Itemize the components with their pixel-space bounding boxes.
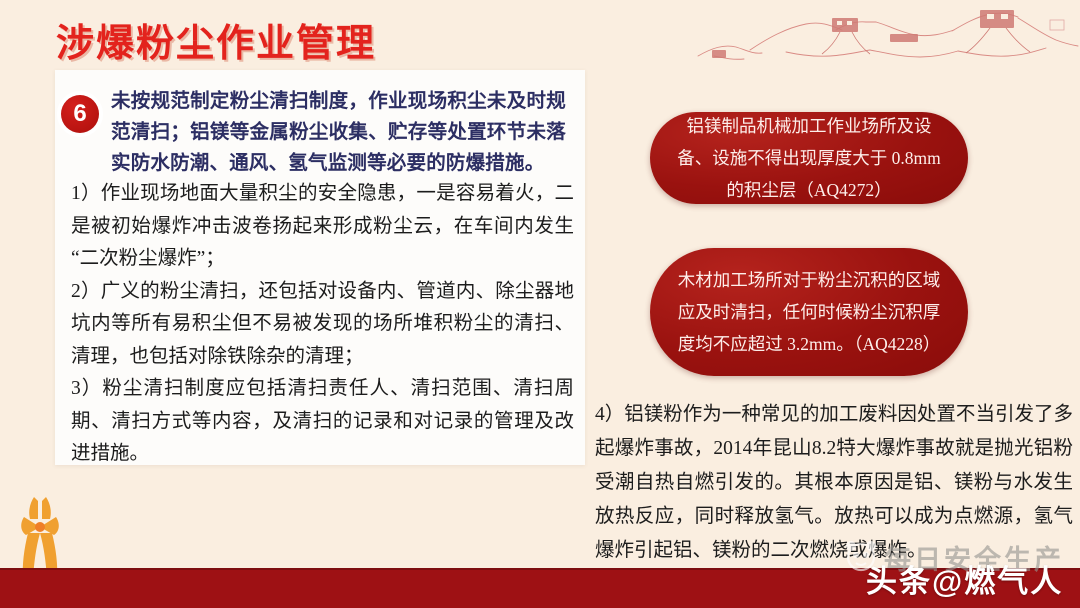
right-paragraph: 4）铝镁粉作为一种常见的加工废料因处置不当引发了多起爆炸事故，2014年昆山8.… (595, 398, 1073, 568)
body-paragraph-2: 2）广义的粉尘清扫，还包括对设备内、管道内、除尘器地坑内等所有易积尘但不易被发现… (71, 276, 574, 374)
page-title: 涉爆粉尘作业管理 (56, 12, 376, 67)
callout-aq4228: 木材加工场所对于粉尘沉积的区域应及时清扫，任何时候粉尘沉积厚度均不应超过 3.2… (650, 248, 968, 376)
body-paragraph-3: 3）粉尘清扫制度应包括清扫责任人、清扫范围、清扫周期、清扫方式等内容，及清扫的记… (71, 373, 574, 471)
panel-heading: 未按规范制定粉尘清扫制度，作业现场积尘未及时规范清扫；铝镁等金属粉尘收集、贮存等… (111, 86, 566, 179)
item-number-badge: 6 (61, 95, 99, 133)
bottom-bar (0, 568, 1080, 608)
great-wall-illustration (690, 0, 1080, 78)
callout-text: 铝镁制品机械加工作业场所及设备、设施不得出现厚度大于 0.8mm 的积尘层（AQ… (676, 110, 942, 206)
content-panel: 6 未按规范制定粉尘清扫制度，作业现场积尘未及时规范清扫；铝镁等金属粉尘收集、贮… (55, 70, 585, 465)
callout-text: 木材加工场所对于粉尘沉积的区域应及时清扫，任何时候粉尘沉积厚度均不应超过 3.2… (676, 264, 942, 360)
panel-body: 1）作业现场地面大量积尘的安全隐患，一是容易着火，二是被初始爆炸冲击波卷扬起来形… (71, 178, 574, 471)
slide-canvas: 涉爆粉尘作业管理 6 未按规范制定粉尘清扫制度，作业现场积尘未及时规范清扫；铝镁… (0, 0, 1080, 608)
body-paragraph-1: 1）作业现场地面大量积尘的安全隐患，一是容易着火，二是被初始爆炸冲击波卷扬起来形… (71, 178, 574, 276)
callout-aq4272: 铝镁制品机械加工作业场所及设备、设施不得出现厚度大于 0.8mm 的积尘层（AQ… (650, 112, 968, 204)
